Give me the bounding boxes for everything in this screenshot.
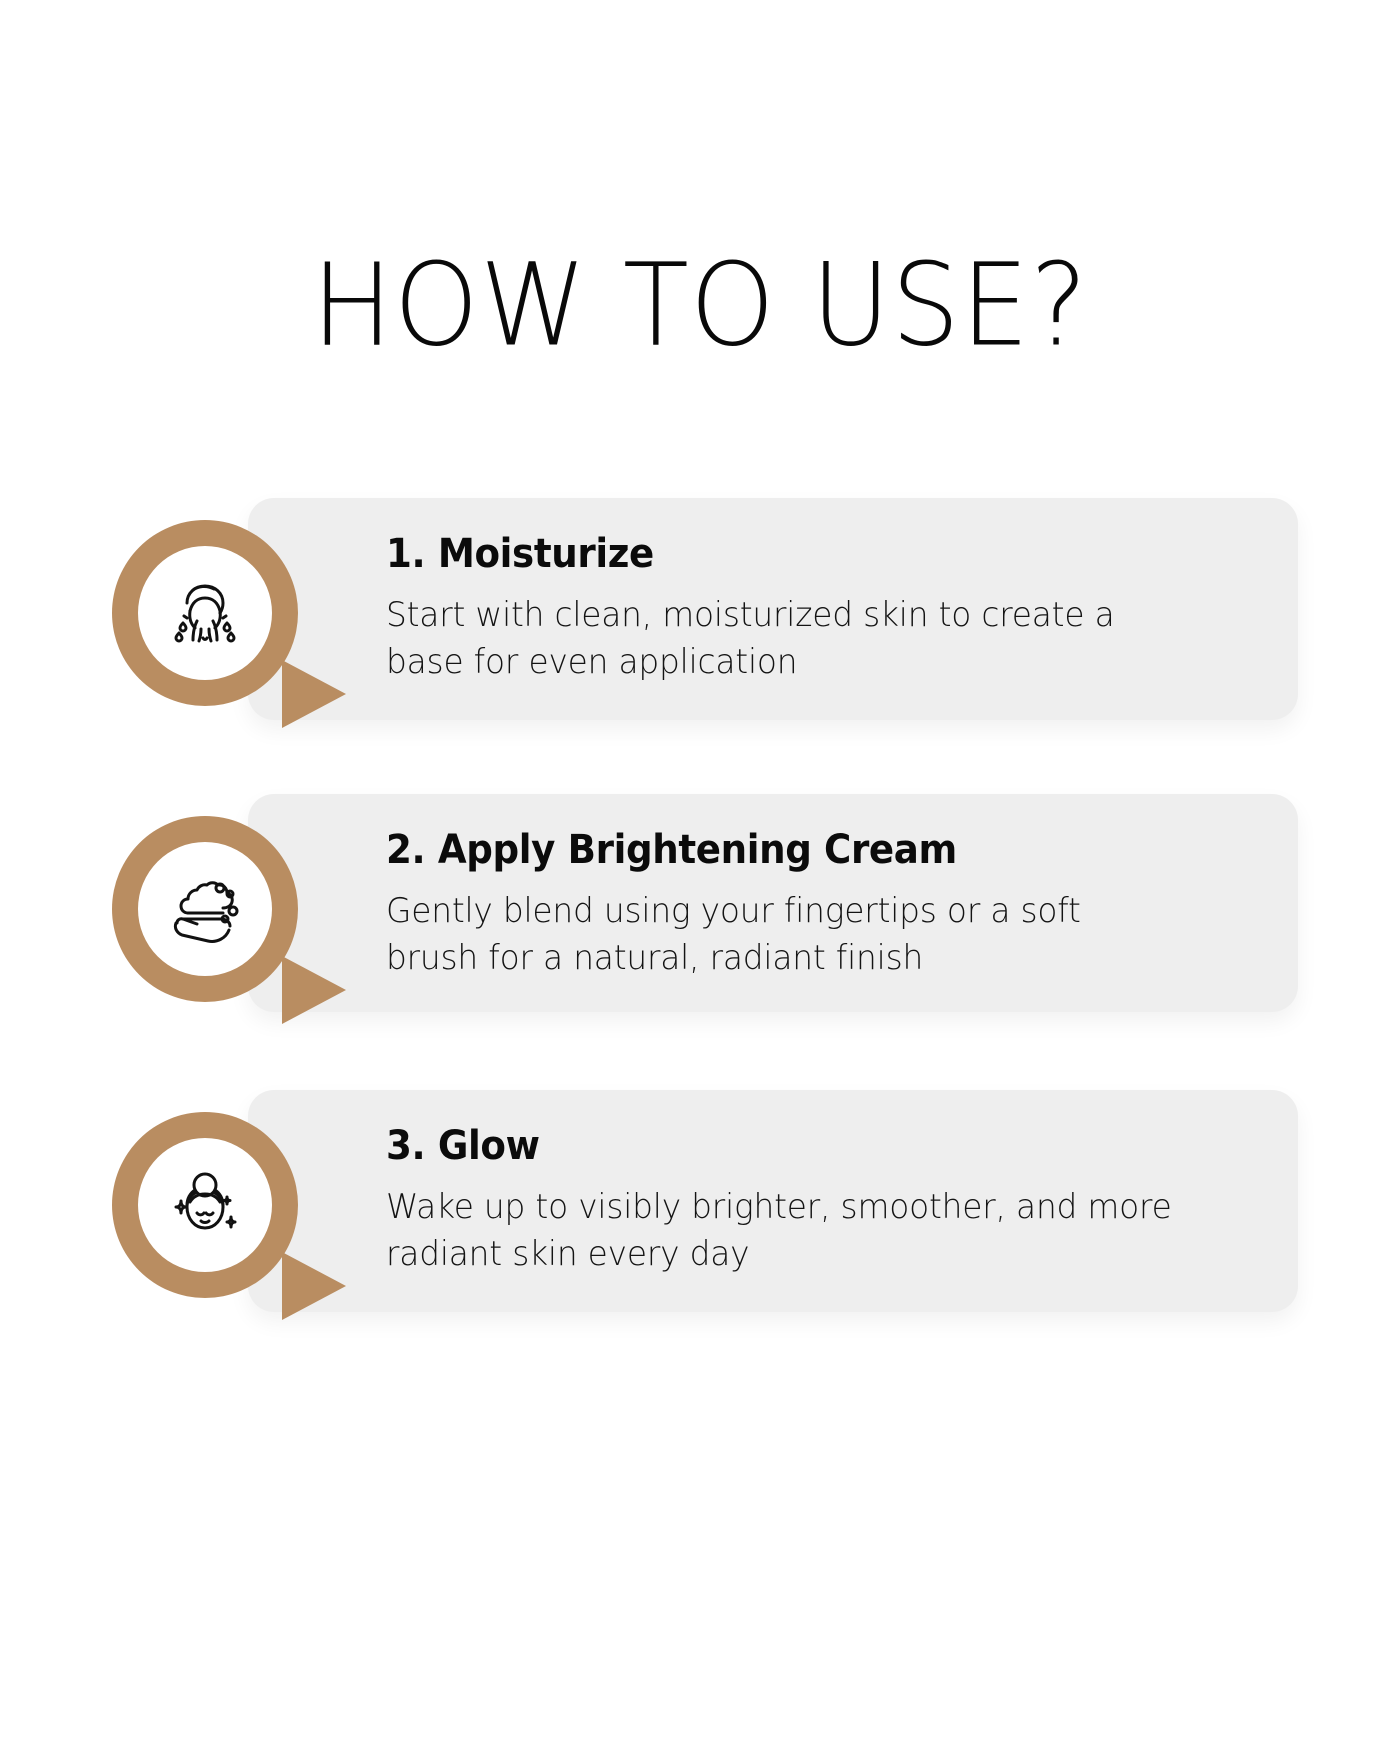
step-description: Wake up to visibly brighter, smoother, a… <box>386 1184 1192 1278</box>
step-description: Start with clean, moisturized skin to cr… <box>386 592 1201 686</box>
glowing-face-sparkle-icon <box>157 1157 253 1253</box>
step-title: 2. Apply Brightening Cream <box>386 828 1197 872</box>
step-title: 1. Moisturize <box>386 532 1197 576</box>
step-description: Gently blend using your fingertips or a … <box>386 888 1119 982</box>
steps-list: 1. Moisturize Start with clean, moisturi… <box>0 498 1400 1312</box>
step-card: 2. Apply Brightening Cream Gently blend … <box>248 794 1298 1012</box>
card-pointer <box>282 660 346 728</box>
woman-washing-face-icon <box>157 565 253 661</box>
card-pointer <box>282 1252 346 1320</box>
page-title: HOW TO USE? <box>0 248 1400 365</box>
step-item: 2. Apply Brightening Cream Gently blend … <box>0 794 1400 1012</box>
card-pointer <box>282 956 346 1024</box>
step-card: 1. Moisturize Start with clean, moisturi… <box>248 498 1298 720</box>
step-title: 3. Glow <box>386 1124 1197 1168</box>
badge-inner-circle <box>138 1138 272 1272</box>
step-item: 3. Glow Wake up to visibly brighter, smo… <box>0 1090 1400 1312</box>
step-badge <box>112 1112 298 1298</box>
badge-inner-circle <box>138 546 272 680</box>
hand-with-cream-foam-icon <box>157 861 253 957</box>
step-card: 3. Glow Wake up to visibly brighter, smo… <box>248 1090 1298 1312</box>
step-badge <box>112 816 298 1002</box>
badge-inner-circle <box>138 842 272 976</box>
how-to-use-infographic: HOW TO USE? 1. Moisturize Start with cle… <box>0 0 1400 1750</box>
step-item: 1. Moisturize Start with clean, moisturi… <box>0 498 1400 720</box>
step-badge <box>112 520 298 706</box>
